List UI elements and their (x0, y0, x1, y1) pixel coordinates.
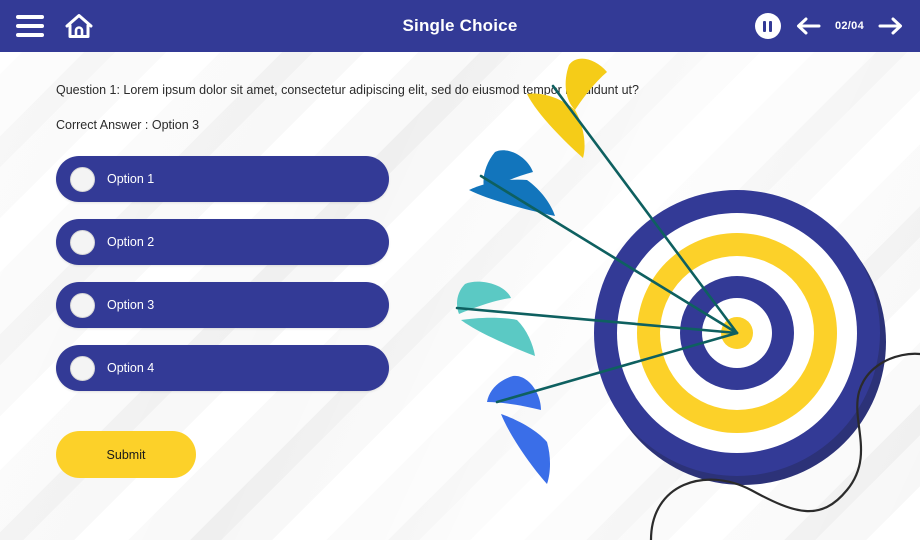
pause-bar-1 (763, 21, 766, 32)
hamburger-menu-icon[interactable] (16, 15, 44, 37)
submit-button[interactable]: Submit (56, 431, 196, 478)
header-right-controls: 02/04 (755, 0, 904, 52)
option-row-4[interactable]: Option 4 (56, 345, 389, 391)
quiz-screen: Single Choice 02/04 (0, 0, 920, 540)
correct-answer-text: Correct Answer : Option 3 (56, 118, 199, 132)
option-label-3: Option 3 (107, 298, 154, 312)
hamburger-bar-2 (16, 24, 44, 28)
dartboard-target-illustration (455, 52, 920, 540)
arrow-left-icon[interactable] (795, 17, 821, 35)
pause-bar-2 (769, 21, 772, 32)
radio-icon-2[interactable] (70, 230, 95, 255)
option-row-3[interactable]: Option 3 (56, 282, 389, 328)
option-label-1: Option 1 (107, 172, 154, 186)
app-header: Single Choice 02/04 (0, 0, 920, 52)
pause-icon[interactable] (755, 13, 781, 39)
option-row-2[interactable]: Option 2 (56, 219, 389, 265)
hamburger-bar-3 (16, 33, 44, 37)
hamburger-bar-1 (16, 15, 44, 19)
arrow-right-icon[interactable] (878, 17, 904, 35)
home-icon[interactable] (64, 12, 94, 40)
page-counter: 02/04 (835, 20, 864, 32)
option-label-4: Option 4 (107, 361, 154, 375)
option-row-1[interactable]: Option 1 (56, 156, 389, 202)
radio-icon-3[interactable] (70, 293, 95, 318)
option-label-2: Option 2 (107, 235, 154, 249)
header-left-controls (0, 12, 94, 40)
radio-icon-1[interactable] (70, 167, 95, 192)
hamburger-bars (16, 15, 44, 37)
radio-icon-4[interactable] (70, 356, 95, 381)
options-list: Option 1 Option 2 Option 3 Option 4 (56, 156, 389, 391)
